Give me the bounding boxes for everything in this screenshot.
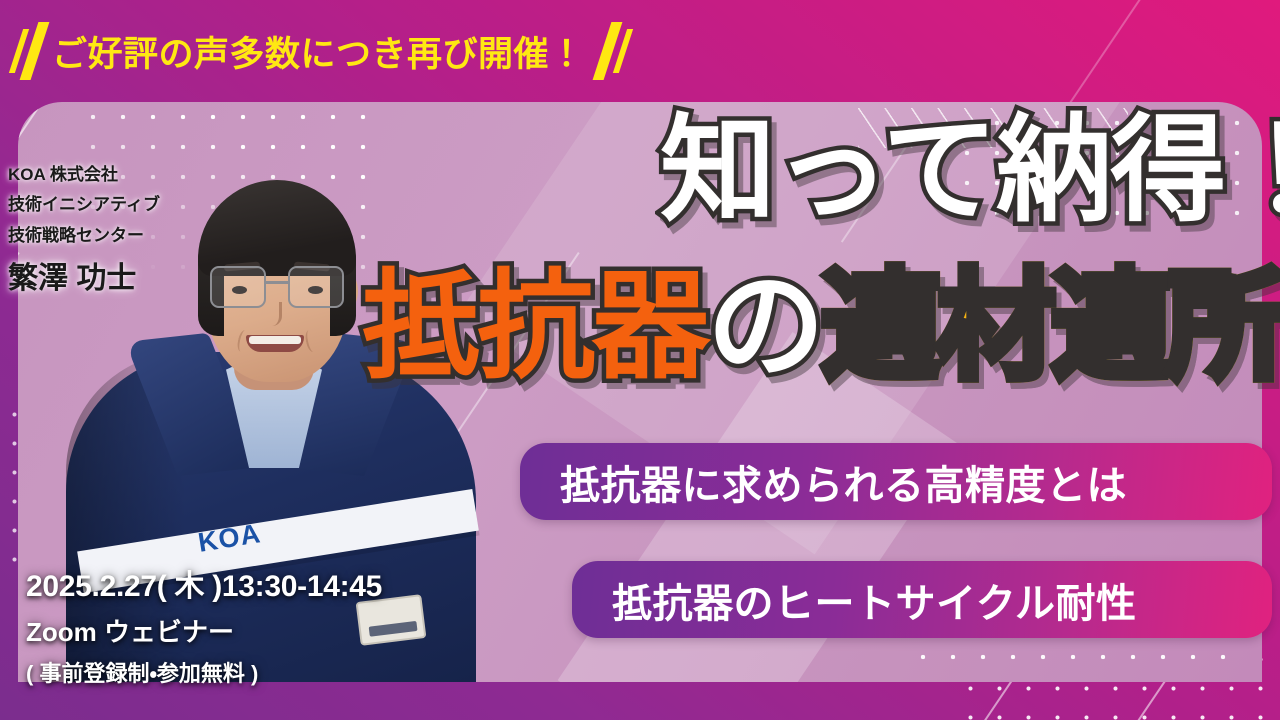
lens-right	[288, 266, 344, 308]
slash-marks-left	[0, 22, 40, 80]
promo-ribbon-text: ご好評の声多数につき再び開催！	[52, 26, 585, 77]
frame-diagonal-line	[1061, 0, 1146, 115]
teeth	[249, 336, 301, 344]
headline-particle: の	[707, 261, 822, 393]
glasses-bridge	[266, 281, 288, 284]
hair-side-right	[330, 242, 356, 336]
mouth	[246, 335, 304, 352]
event-datetime: 2025.2.27( 木 )13:30-14:45	[26, 561, 466, 605]
speaker-name: 繁澤 功士	[8, 253, 223, 297]
headline-right-place: 適材適所	[822, 261, 1280, 393]
nose	[266, 302, 282, 326]
smile-line-left	[236, 329, 250, 353]
smile-line-right	[304, 329, 318, 353]
topic-label-2: 抵抗器のヒートサイクル耐性	[612, 571, 1137, 629]
headline-line-2: 抵抗器の適材適所	[362, 268, 1280, 386]
topic-bar-1: 抵抗器に求められる高精度とは	[520, 443, 1272, 520]
topic-label-1: 抵抗器に求められる高精度とは	[560, 453, 1127, 511]
eyebrow-right	[294, 261, 330, 271]
glasses-icon	[210, 266, 344, 310]
ear-right	[336, 272, 358, 310]
speaker-company: KOA 株式会社	[8, 160, 223, 190]
speaker-division: 技術イニシアティブ	[8, 190, 223, 220]
slash-marks-right	[593, 22, 626, 80]
event-note: ( 事前登録制・参加無料 )	[26, 656, 466, 688]
speaker-info: KOA 株式会社 技術イニシアティブ 技術戦略センター 繁澤 功士	[8, 160, 223, 297]
eye-left	[232, 286, 247, 294]
headline-resistor: 抵抗器	[362, 261, 707, 393]
promo-ribbon: ご好評の声多数につき再び開催！	[0, 0, 620, 102]
koa-logo: KOA	[196, 518, 263, 558]
headline-line-1: 知って納得！	[660, 112, 1280, 228]
eyebrow-left	[224, 261, 260, 271]
event-details: 2025.2.27( 木 )13:30-14:45 Zoom ウェビナー ( 事…	[26, 561, 466, 688]
jacket-collar-left	[125, 333, 261, 476]
face	[206, 200, 348, 382]
webinar-banner: ご好評の声多数につき再び開催！ KOA	[0, 0, 1280, 720]
topic-bar-2: 抵抗器のヒートサイクル耐性	[572, 561, 1272, 638]
neck	[234, 310, 314, 390]
event-platform: Zoom ウェビナー	[26, 612, 466, 649]
speaker-department: 技術戦略センター	[8, 221, 223, 251]
shirt	[226, 348, 322, 468]
eye-right	[308, 286, 323, 294]
